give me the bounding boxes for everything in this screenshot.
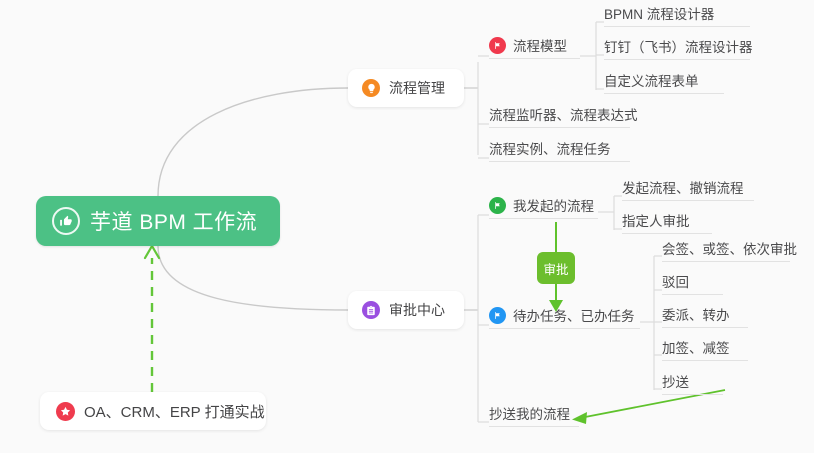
- node-assigned-approval[interactable]: 指定人审批: [622, 215, 712, 234]
- node-start-cancel-process-label: 发起流程、撤销流程: [622, 177, 744, 197]
- node-dingtalk-feishu-designer-label: 钉钉（飞书）流程设计器: [604, 36, 753, 56]
- flag-icon-blue: [489, 307, 506, 324]
- node-process-model[interactable]: 流程模型: [489, 40, 580, 59]
- clipboard-icon: [362, 301, 380, 319]
- node-listener-expression-label: 流程监听器、流程表达式: [489, 104, 638, 124]
- branch-approval-center-label: 审批中心: [389, 300, 445, 320]
- node-listener-expression[interactable]: 流程监听器、流程表达式: [489, 109, 630, 128]
- node-cc-label: 抄送: [662, 371, 689, 391]
- node-delegate-transfer-label: 委派、转办: [662, 304, 730, 324]
- node-my-initiated-label: 我发起的流程: [513, 195, 594, 215]
- lightbulb-icon: [362, 79, 380, 97]
- floating-node-oa-crm-erp[interactable]: OA、CRM、ERP 打通实战: [40, 392, 266, 430]
- node-countersign[interactable]: 会签、或签、依次审批: [662, 243, 790, 262]
- star-icon: [56, 402, 75, 421]
- node-assigned-approval-label: 指定人审批: [622, 210, 690, 230]
- root-label: 芋道 BPM 工作流: [90, 206, 257, 236]
- node-cc-to-me[interactable]: 抄送我的流程: [489, 408, 579, 427]
- approval-badge-label: 审批: [543, 259, 568, 278]
- flag-icon-green: [489, 197, 506, 214]
- node-cc-to-me-label: 抄送我的流程: [489, 403, 570, 423]
- node-bpmn-designer-label: BPMN 流程设计器: [604, 3, 714, 23]
- branch-process-management-label: 流程管理: [389, 78, 445, 98]
- node-dingtalk-feishu-designer[interactable]: 钉钉（飞书）流程设计器: [604, 41, 750, 60]
- branch-approval-center[interactable]: 审批中心: [348, 291, 464, 329]
- thumbs-up-icon: [52, 207, 80, 235]
- node-custom-process-form-label: 自定义流程表单: [604, 70, 699, 90]
- node-bpmn-designer[interactable]: BPMN 流程设计器: [604, 8, 750, 27]
- node-delegate-transfer[interactable]: 委派、转办: [662, 309, 748, 328]
- mindmap-canvas: 芋道 BPM 工作流 流程管理 审批中心 流程模型 BPMN 流程设计器: [0, 0, 814, 453]
- node-add-remove-sign[interactable]: 加签、减签: [662, 342, 748, 361]
- node-reject[interactable]: 驳回: [662, 276, 723, 295]
- node-process-model-label: 流程模型: [513, 35, 567, 55]
- node-instance-task[interactable]: 流程实例、流程任务: [489, 143, 630, 162]
- root-node[interactable]: 芋道 BPM 工作流: [36, 196, 280, 246]
- flag-icon-red: [489, 37, 506, 54]
- node-instance-task-label: 流程实例、流程任务: [489, 138, 611, 158]
- node-countersign-label: 会签、或签、依次审批: [662, 238, 797, 258]
- node-custom-process-form[interactable]: 自定义流程表单: [604, 75, 724, 94]
- node-start-cancel-process[interactable]: 发起流程、撤销流程: [622, 182, 754, 201]
- floating-node-oa-crm-erp-label: OA、CRM、ERP 打通实战: [84, 401, 265, 422]
- node-cc[interactable]: 抄送: [662, 376, 723, 395]
- node-add-remove-sign-label: 加签、减签: [662, 337, 730, 357]
- approval-badge[interactable]: 审批: [537, 252, 575, 284]
- node-reject-label: 驳回: [662, 271, 689, 291]
- node-todo-done-tasks[interactable]: 待办任务、已办任务: [489, 310, 640, 329]
- branch-process-management[interactable]: 流程管理: [348, 69, 464, 107]
- node-todo-done-tasks-label: 待办任务、已办任务: [513, 305, 635, 325]
- node-my-initiated[interactable]: 我发起的流程: [489, 200, 598, 219]
